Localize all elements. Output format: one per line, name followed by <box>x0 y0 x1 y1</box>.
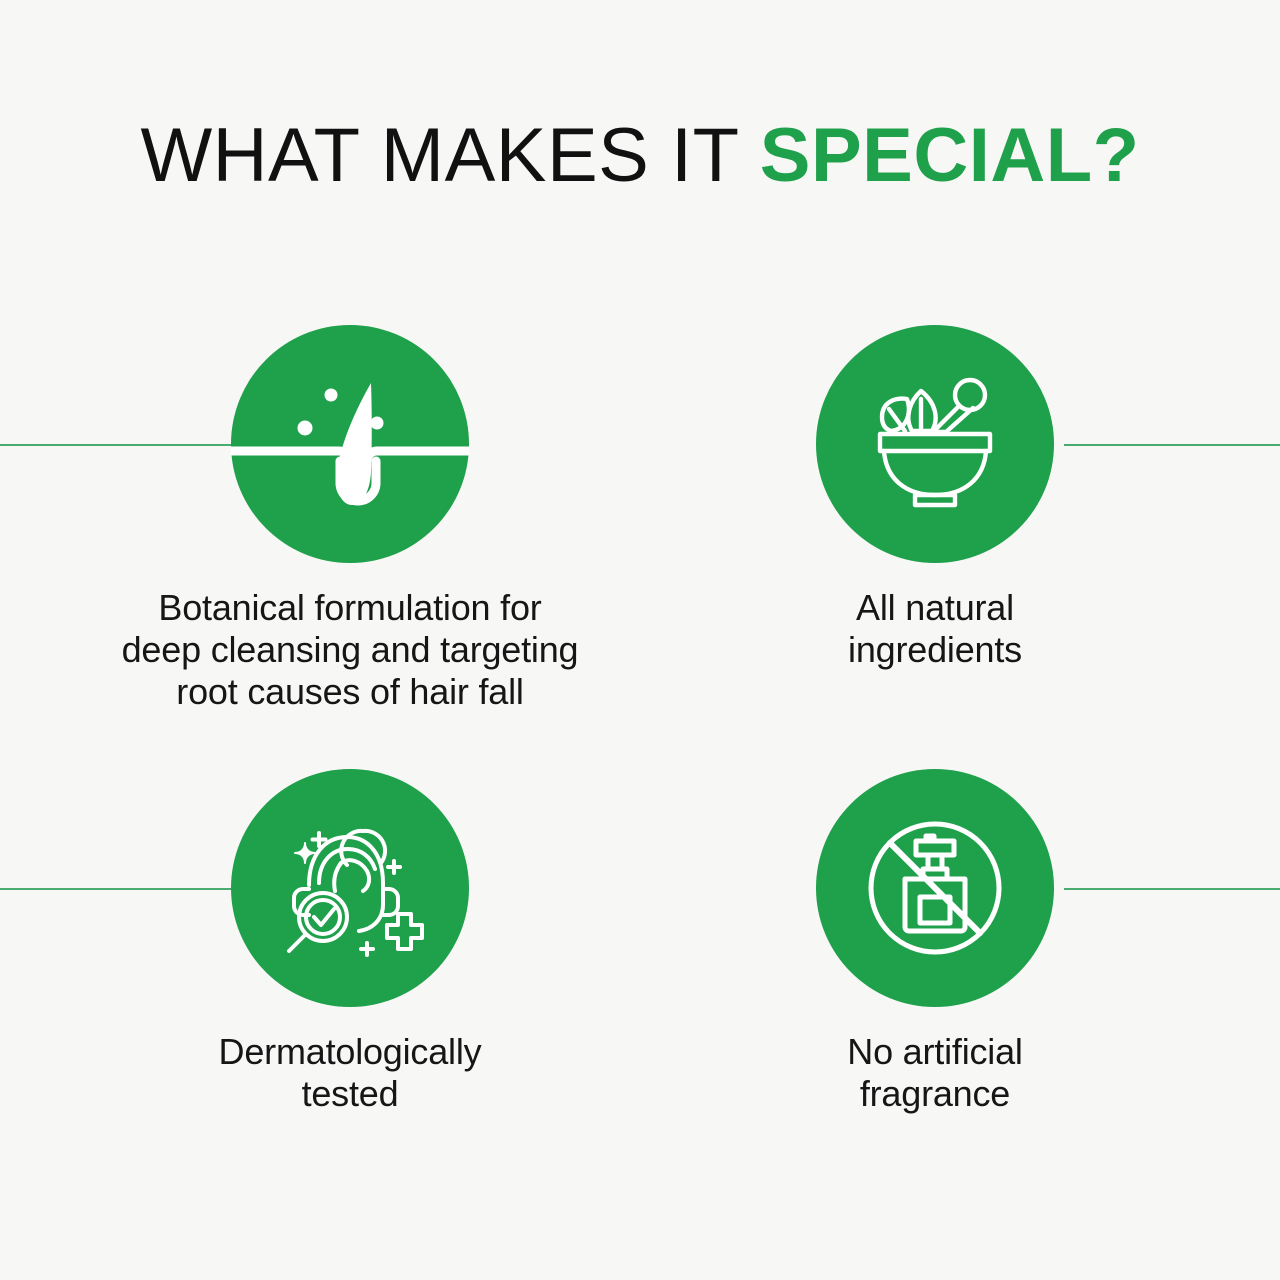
caption-line: root causes of hair fall <box>90 671 610 713</box>
caption-line: tested <box>90 1073 610 1115</box>
caption-line: deep cleansing and targeting <box>90 629 610 671</box>
dermatologically-tested-icon <box>231 769 469 1007</box>
feature-item: Dermatologically tested <box>90 769 610 1115</box>
feature-caption: All natural ingredients <box>675 587 1195 671</box>
caption-line: No artificial <box>675 1031 1195 1073</box>
feature-caption: Dermatologically tested <box>90 1031 610 1115</box>
feature-item: All natural ingredients <box>675 325 1195 671</box>
feature-item: No artificial fragrance <box>675 769 1195 1115</box>
caption-line: ingredients <box>675 629 1195 671</box>
caption-line: All natural <box>675 587 1195 629</box>
feature-caption: Botanical formulation for deep cleansing… <box>90 587 610 713</box>
caption-line: Dermatologically <box>90 1031 610 1073</box>
no-fragrance-icon <box>816 769 1054 1007</box>
mortar-and-pestle-icon <box>816 325 1054 563</box>
feature-grid: Botanical formulation for deep cleansing… <box>0 0 1280 1280</box>
feature-caption: No artificial fragrance <box>675 1031 1195 1115</box>
hair-follicle-icon <box>231 325 469 563</box>
caption-line: Botanical formulation for <box>90 587 610 629</box>
feature-item: Botanical formulation for deep cleansing… <box>90 325 610 713</box>
caption-line: fragrance <box>675 1073 1195 1115</box>
